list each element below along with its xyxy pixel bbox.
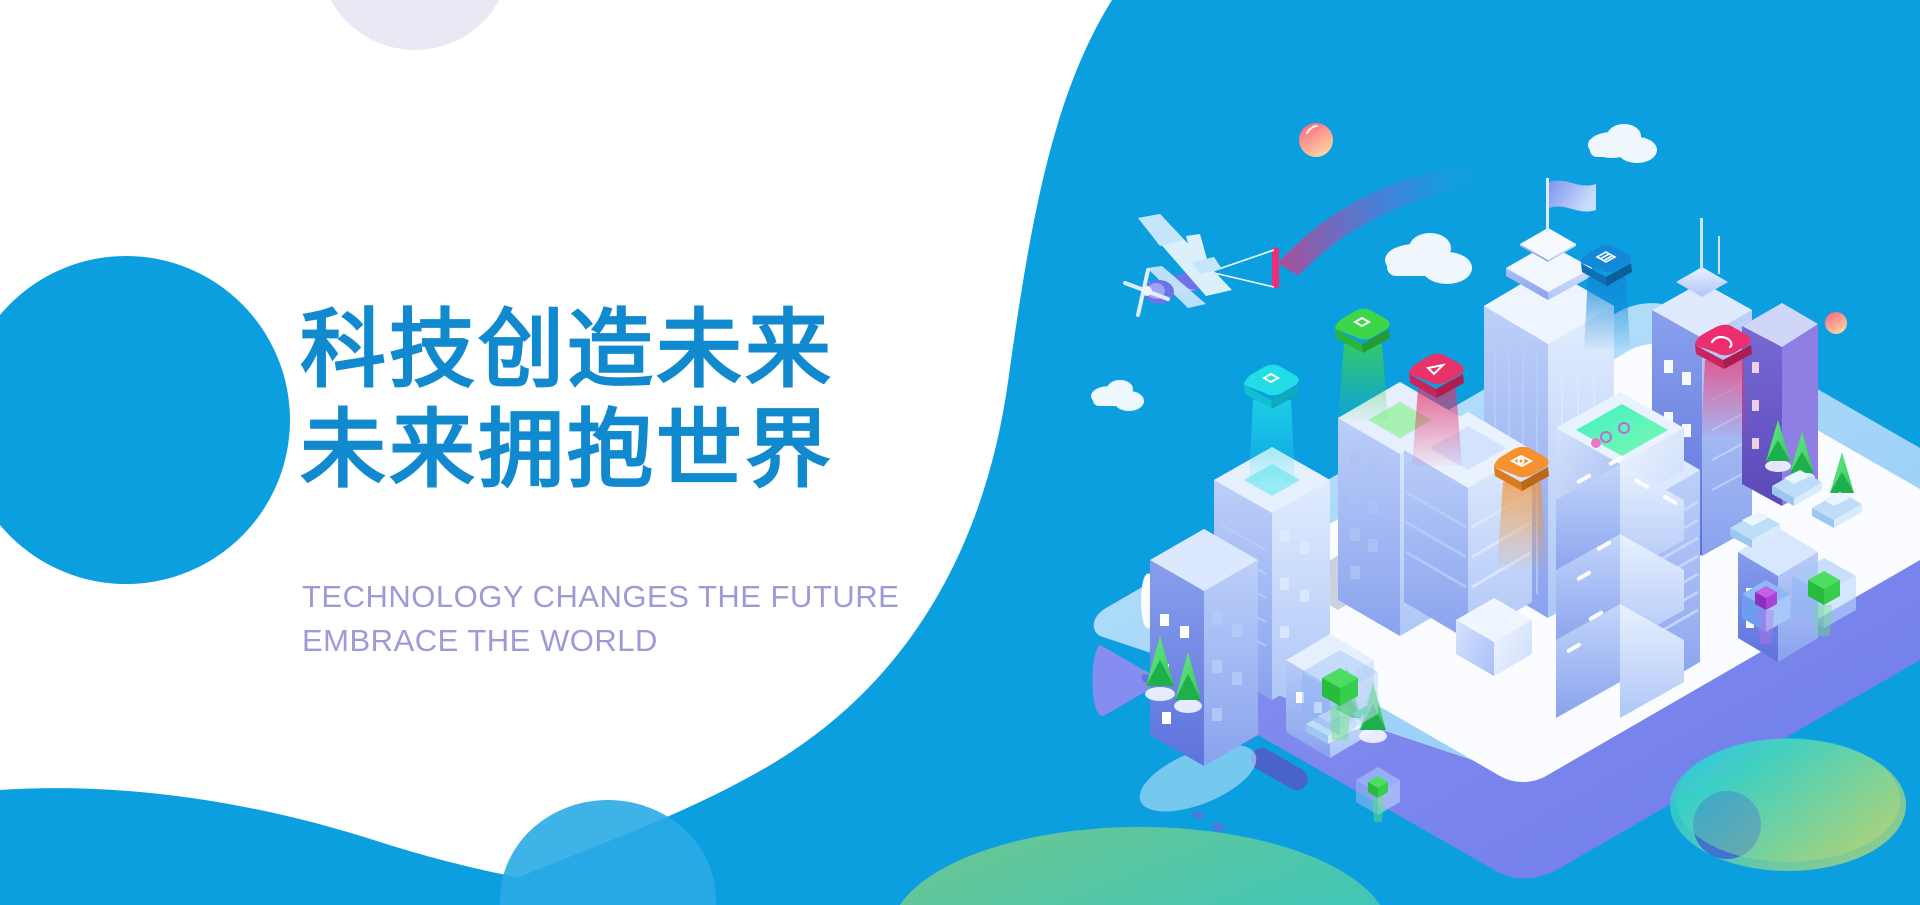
flag-pole xyxy=(1546,178,1549,232)
headline-block: 科技创造未来 未来拥抱世界 xyxy=(300,300,834,500)
salmon-ball-large xyxy=(1299,123,1333,157)
headline-line-1: 科技创造未来 xyxy=(300,300,834,400)
subtitle-block: TECHNOLOGY CHANGES THE FUTURE EMBRACE TH… xyxy=(302,575,899,663)
beam-cyan xyxy=(1249,400,1295,482)
promo-banner: 科技创造未来 未来拥抱世界 TECHNOLOGY CHANGES THE FUT… xyxy=(0,0,1920,905)
plane-banner-strip xyxy=(1272,248,1279,288)
building-foreground-left xyxy=(1150,529,1258,766)
beam-magenta xyxy=(1701,360,1747,436)
background-art xyxy=(0,0,1920,905)
beam-orange xyxy=(1497,482,1547,568)
salmon-ball-small xyxy=(1825,312,1847,334)
headline-line-2: 未来拥抱世界 xyxy=(300,400,834,500)
beam-pink xyxy=(1412,389,1462,466)
subtitle-line-1: TECHNOLOGY CHANGES THE FUTURE xyxy=(302,575,899,619)
beam-blue xyxy=(1584,277,1630,348)
beam-green xyxy=(1338,344,1388,420)
subtitle-line-2: EMBRACE THE WORLD xyxy=(302,619,899,663)
teal-ellipse-overlay xyxy=(1676,738,1900,862)
